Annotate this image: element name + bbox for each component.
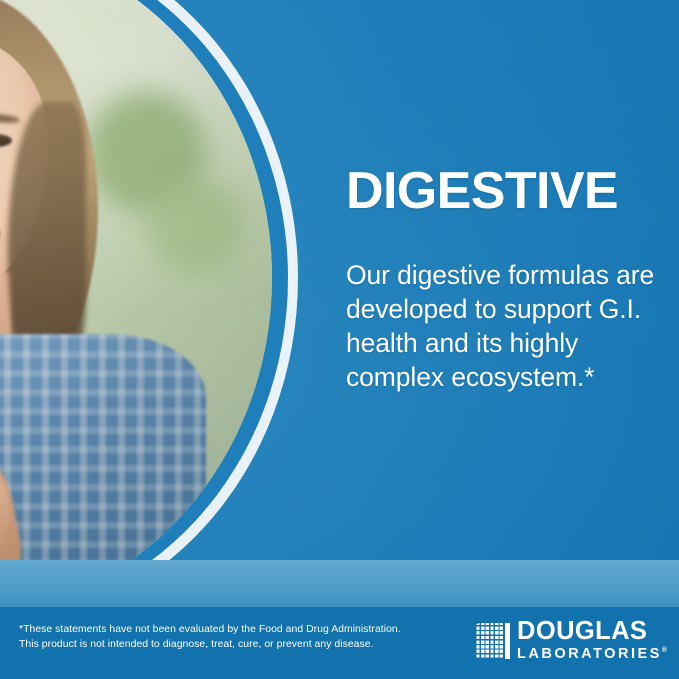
photo-vignette (0, 0, 272, 614)
logo-sub-brand: LABORATORIES® (517, 643, 667, 662)
body-copy-line-3: health and its highly (346, 326, 666, 360)
grid-squares-icon-bar (505, 623, 510, 659)
registered-trademark-icon: ® (662, 647, 667, 654)
body-copy-line-1: Our digestive formulas are (346, 258, 666, 292)
grid-squares-icon-cells (475, 623, 503, 659)
fda-disclaimer-line-1: *These statements have not been evaluate… (19, 623, 419, 638)
photo-scene (0, 0, 272, 614)
footer-bar: *These statements have not been evaluate… (0, 607, 679, 679)
marketing-copy: DIGESTIVE Our digestive formulas are dev… (346, 163, 666, 394)
light-blue-band (0, 560, 679, 607)
logo-sub-brand-text: LABORATORIES (517, 646, 662, 662)
logo-wordmark: DOUGLAS LABORATORIES® (517, 620, 667, 662)
grid-squares-icon (475, 623, 510, 659)
page-title: DIGESTIVE (346, 163, 666, 219)
douglas-laboratories-logo: DOUGLAS LABORATORIES® (475, 620, 667, 662)
body-copy-line-2: developed to support G.I. (346, 292, 666, 326)
logo-brand-name: DOUGLAS (517, 620, 667, 643)
body-copy-line-4: complex ecosystem.* (346, 360, 666, 394)
digestive-product-banner: DIGESTIVE Our digestive formulas are dev… (0, 0, 679, 679)
fda-disclaimer-line-2: This product is not intended to diagnose… (19, 638, 419, 653)
fda-disclaimer: *These statements have not been evaluate… (19, 623, 419, 652)
body-copy: Our digestive formulas are developed to … (346, 219, 666, 394)
lifestyle-photo (0, 0, 272, 614)
